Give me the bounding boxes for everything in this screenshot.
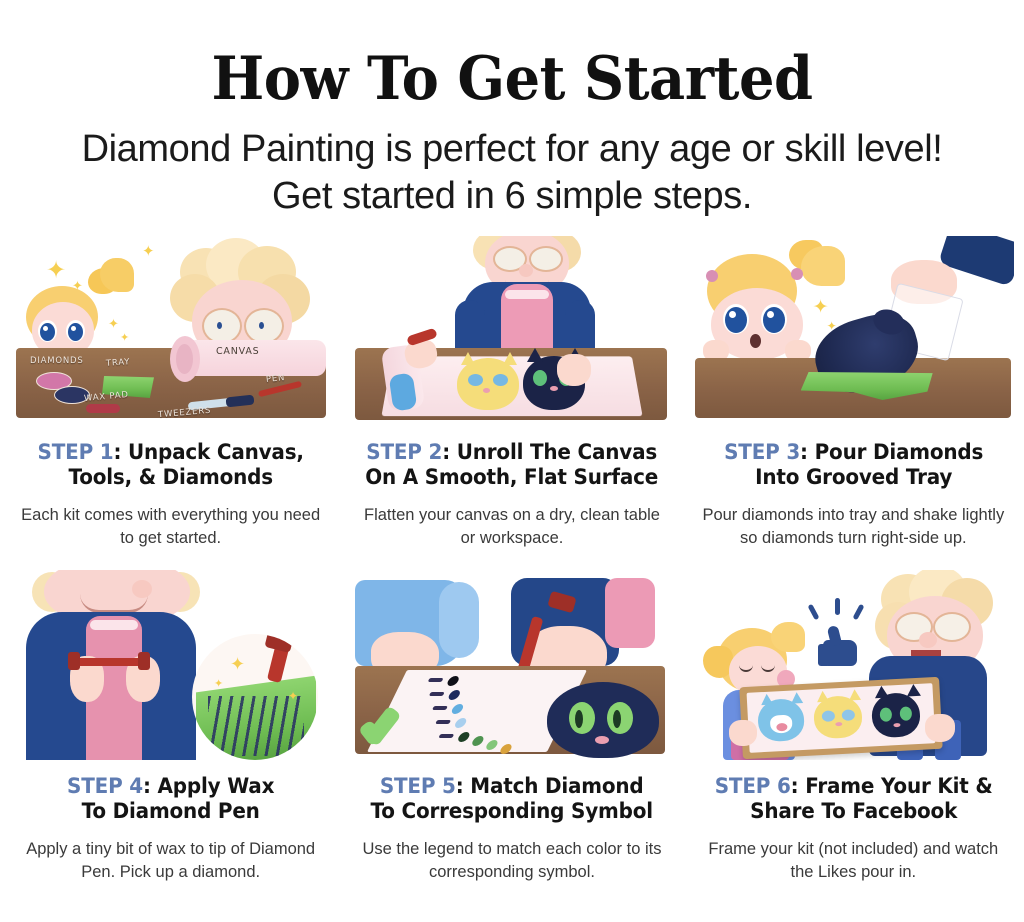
step-3-title-line1: Pour Diamonds [814,440,983,464]
sparkle-icon: ✦ [288,690,298,702]
step-2-title-line2: On A Smooth, Flat Surface [366,465,659,489]
step-6-title-line2: Share To Facebook [750,799,957,823]
step-1-label: STEP 1 [38,440,114,464]
step-card-2: STEP 2: Unroll The Canvas On A Smooth, F… [341,236,682,550]
step-2-separator: : [443,440,451,464]
step-3-illustration: ✦ ✦ [693,236,1014,426]
navy-cat-face [547,682,659,758]
step-2-description: Flatten your canvas on a dry, clean tabl… [351,504,672,550]
step-1-title-line2: Tools, & Diamonds [68,465,272,489]
sparkle-icon: ✦ [813,298,829,317]
step-card-5: STEP 5: Match Diamond To Corresponding S… [341,570,682,884]
step-3-label: STEP 3 [724,440,800,464]
step-1-title-line1: Unpack Canvas, [128,440,304,464]
step-5-description: Use the legend to match each color to it… [351,838,672,884]
page-header: How To Get Started Diamond Painting is p… [0,0,1024,220]
art-label-canvas: CANVAS [216,346,259,357]
step-5-title-line2: To Corresponding Symbol [371,799,653,823]
picture-frame [739,677,942,759]
step-1-description: Each kit comes with everything you need … [10,504,331,550]
sparkle-icon: ✦ [230,656,245,674]
step-3-description: Pour diamonds into tray and shake lightl… [693,504,1014,550]
step-5-illustration [351,570,672,760]
sparkle-icon: ✦ [120,332,129,343]
yellow-cat-face [457,358,519,410]
step-card-6: STEP 6: Frame Your Kit & Share To Facebo… [683,570,1024,884]
step-3-caption: STEP 3: Pour Diamonds Into Grooved Tray [701,440,1006,490]
step-4-illustration: ✦ ✦ ✦ [10,570,331,760]
step-1-caption: STEP 1: Unpack Canvas, Tools, & Diamonds [18,440,323,490]
step-6-description: Frame your kit (not included) and watch … [693,838,1014,884]
step-card-3: ✦ ✦ STEP 3: Pour Diamonds Into Grooved T… [683,236,1024,550]
diamond-pen [76,658,144,666]
step-3-title-line2: Into Grooved Tray [755,465,952,489]
step-4-description: Apply a tiny bit of wax to tip of Diamon… [10,838,331,884]
sparkle-icon: ✦ [46,258,66,282]
step-3-separator: : [800,440,808,464]
step-2-title-line1: Unroll The Canvas [457,440,657,464]
step-4-separator: : [143,774,151,798]
thumbs-up-icon [817,624,861,668]
step-5-title-line1: Match Diamond [471,774,644,798]
step-4-caption: STEP 4: Apply Wax To Diamond Pen [18,774,323,824]
art-label-pen: PEN [266,373,286,385]
art-label-diamonds: DIAMONDS [30,356,84,366]
sparkle-icon: ✦ [72,280,83,293]
step-6-title-line1: Frame Your Kit & [805,774,992,798]
page-title: How To Get Started [36,48,988,110]
step-4-label: STEP 4 [67,774,143,798]
step-5-label: STEP 5 [380,774,456,798]
step-5-separator: : [456,774,464,798]
step-5-caption: STEP 5: Match Diamond To Corresponding S… [359,774,664,824]
step-4-title-line1: Apply Wax [158,774,275,798]
steps-grid: ✦ ✦ ✦ ✦ ✦ [0,236,1024,884]
step-6-label: STEP 6 [714,774,790,798]
step-1-illustration: ✦ ✦ ✦ ✦ ✦ [10,236,331,426]
sparkle-icon: ✦ [108,318,119,331]
step-2-caption: STEP 2: Unroll The Canvas On A Smooth, F… [359,440,664,490]
step-2-label: STEP 2 [367,440,443,464]
step-6-separator: : [790,774,798,798]
step-1-separator: : [113,440,121,464]
step-6-illustration [693,570,1014,760]
step-card-4: ✦ ✦ ✦ STEP 4: Apply Wax To Diamond Pen A… [0,570,341,884]
art-label-tray: TRAY [106,357,131,369]
step-4-title-line2: To Diamond Pen [82,799,260,823]
page-subtitle: Diamond Painting is perfect for any age … [72,126,952,220]
sparkle-icon: ✦ [142,244,155,259]
step-6-caption: STEP 6: Frame Your Kit & Share To Facebo… [701,774,1006,824]
step-2-illustration [351,236,672,426]
step-card-1: ✦ ✦ ✦ ✦ ✦ [0,236,341,550]
how-to-get-started-infographic: How To Get Started Diamond Painting is p… [0,0,1024,922]
zoom-inset: ✦ ✦ ✦ [192,634,318,760]
sparkle-icon: ✦ [214,678,223,689]
